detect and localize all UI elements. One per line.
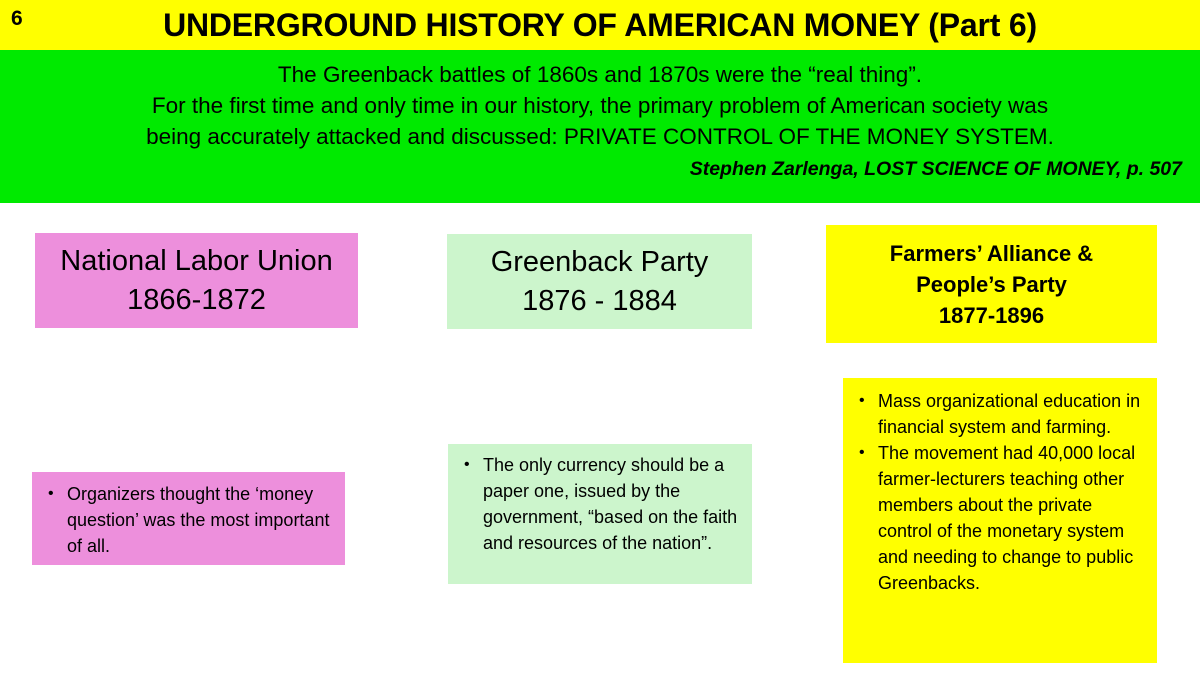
list-item-text: The only currency should be a paper one,… — [483, 452, 744, 556]
page-title: UNDERGROUND HISTORY OF AMERICAN MONEY (P… — [0, 3, 1200, 47]
list-item-text: Mass organizational education in financi… — [878, 388, 1149, 440]
quote-line-2: For the first time and only time in our … — [10, 90, 1190, 121]
bullet-icon: • — [40, 481, 67, 559]
column-header-line: 1876 - 1884 — [522, 282, 677, 321]
column-header-line: 1866-1872 — [127, 281, 266, 320]
column-header-farmers-alliance-peoples-party: Farmers’ Alliance & People’s Party 1877-… — [826, 225, 1157, 343]
quote-attribution: Stephen Zarlenga, LOST SCIENCE OF MONEY,… — [10, 152, 1190, 182]
quote-line-1: The Greenback battles of 1860s and 1870s… — [10, 59, 1190, 90]
column-body-farmers-alliance-peoples-party: • Mass organizational education in finan… — [843, 378, 1157, 663]
list-item: • Mass organizational education in finan… — [851, 388, 1149, 440]
list-item: • The only currency should be a paper on… — [456, 452, 744, 556]
list-item-text: Organizers thought the ‘money question’ … — [67, 481, 337, 559]
list-item: • The movement had 40,000 local farmer-l… — [851, 440, 1149, 596]
column-header-greenback-party: Greenback Party 1876 - 1884 — [447, 234, 752, 329]
bullet-icon: • — [456, 452, 483, 556]
column-header-line: Farmers’ Alliance & — [890, 238, 1093, 269]
slide-title-bar: 6 UNDERGROUND HISTORY OF AMERICAN MONEY … — [0, 0, 1200, 50]
column-header-line: People’s Party — [916, 269, 1067, 300]
quote-line-3: being accurately attacked and discussed:… — [10, 121, 1190, 152]
quote-banner: The Greenback battles of 1860s and 1870s… — [0, 50, 1200, 203]
column-header-national-labor-union: National Labor Union 1866-1872 — [35, 233, 358, 328]
column-body-greenback-party: • The only currency should be a paper on… — [448, 444, 752, 584]
list-item-text: The movement had 40,000 local farmer-lec… — [878, 440, 1149, 596]
bullet-icon: • — [851, 388, 878, 440]
list-item: • Organizers thought the ‘money question… — [40, 481, 337, 559]
column-body-national-labor-union: • Organizers thought the ‘money question… — [32, 472, 345, 565]
column-header-line: Greenback Party — [491, 243, 709, 282]
column-header-line: National Labor Union — [60, 242, 332, 281]
column-header-line: 1877-1896 — [939, 300, 1044, 331]
bullet-icon: • — [851, 440, 878, 596]
